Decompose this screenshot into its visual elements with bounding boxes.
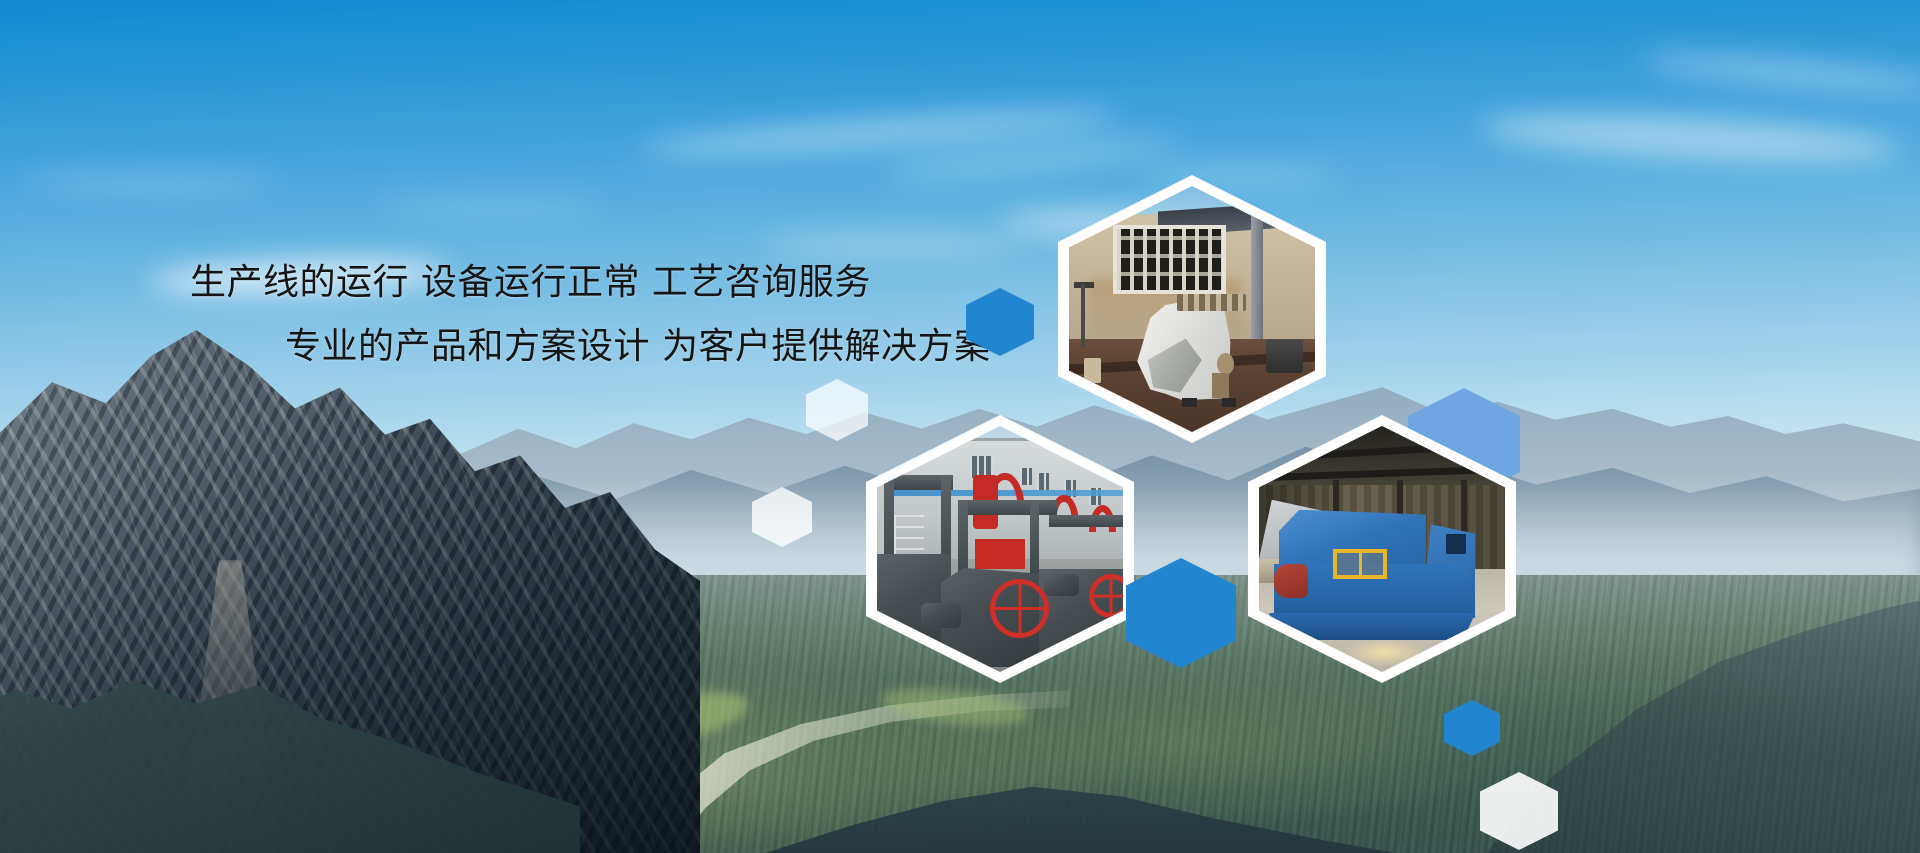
cloud-wisp (380, 200, 600, 212)
headline-line-1: 生产线的运行 设备运行正常 工艺咨询服务 (0, 265, 1060, 301)
machine-top-flange (1177, 294, 1246, 311)
pole (1081, 284, 1085, 348)
barred-window (1113, 225, 1226, 294)
cloud-wisp (20, 176, 280, 190)
drum-container (1084, 358, 1101, 383)
machine-drive-shaft (921, 603, 960, 628)
shredder-motor-red (1274, 564, 1308, 598)
cloud-wisp (760, 236, 1020, 252)
headline-line-2: 专业的产品和方案设计 为客户提供解决方案 (0, 329, 1060, 365)
hex-photo-casting-machine-image (1069, 186, 1315, 432)
cloud-wisp (1140, 168, 1340, 182)
housing-access-port (1446, 534, 1466, 554)
photo-grey-machines (877, 426, 1123, 672)
shredder-base-skid (1269, 613, 1476, 640)
headline-block: 生产线的运行 设备运行正常 工艺咨询服务 专业的产品和方案设计 为客户提供解决方… (0, 265, 1060, 365)
hex-photo-blue-shredder-image (1259, 426, 1505, 672)
red-handwheel (990, 579, 1049, 638)
window-bars-horizontal (1117, 229, 1222, 290)
factory-window (1037, 473, 1049, 490)
machine-gantry-leg (1030, 500, 1040, 579)
machine-skid (1222, 398, 1237, 408)
red-panel (975, 539, 1024, 569)
factory-window (1020, 468, 1032, 485)
photo-casting-machine (1069, 186, 1315, 432)
machine-gantry (1049, 515, 1123, 527)
ground-bin (1266, 339, 1303, 373)
hex-photo-grey-machines-image (877, 426, 1123, 672)
machine-gantry-leg (958, 500, 968, 579)
hero-banner: 生产线的运行 设备运行正常 工艺咨询服务 专业的产品和方案设计 为客户提供解决方… (0, 0, 1920, 853)
machine-skid (1182, 398, 1197, 408)
wall-pillar (1251, 216, 1263, 344)
machine-gantry (958, 500, 1056, 515)
photo-blue-shredder (1259, 426, 1505, 672)
yellow-frame-divider (1359, 549, 1362, 579)
floor-light-glow (1343, 638, 1427, 668)
machine-control-box (1212, 373, 1229, 398)
machine-drive-shaft (1044, 574, 1078, 596)
